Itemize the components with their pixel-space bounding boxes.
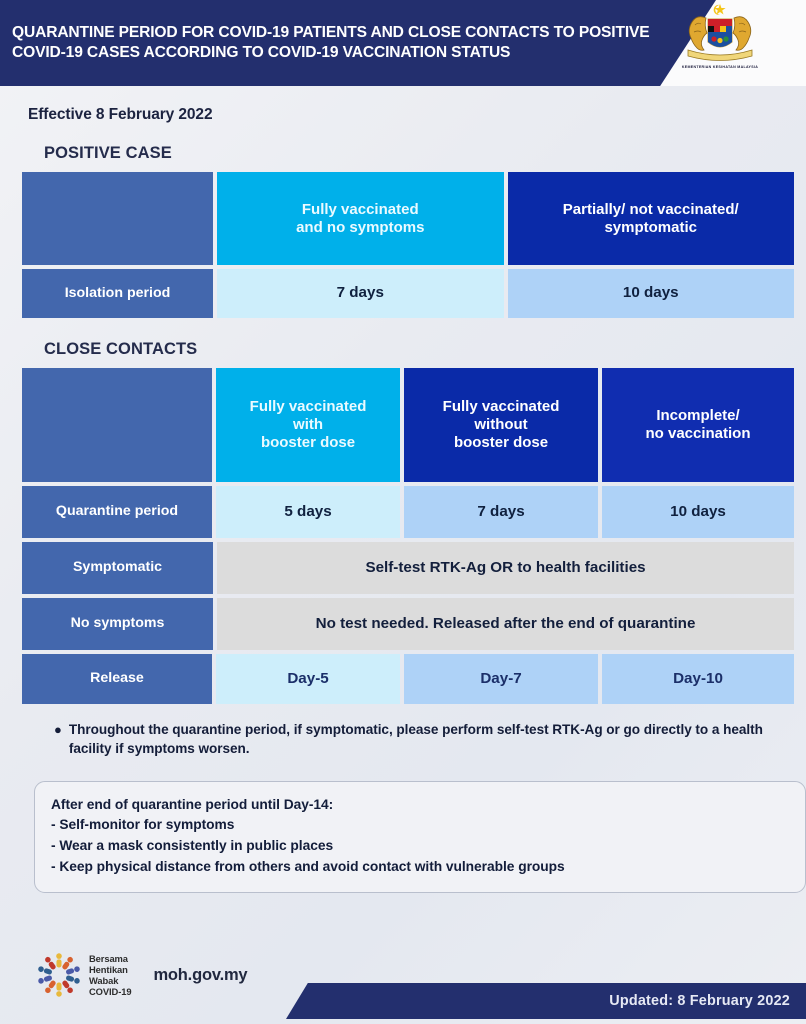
effective-date: Effective 8 February 2022: [28, 106, 788, 124]
brand-block: Bersama Hentikan Wabak COVID-19 moh.gov.…: [32, 948, 247, 1002]
advice-heading: After end of quarantine period until Day…: [51, 795, 789, 816]
footer: Bersama Hentikan Wabak COVID-19 moh.gov.…: [0, 946, 806, 1024]
post-quarantine-advice-box: After end of quarantine period until Day…: [34, 781, 806, 894]
positive-case-table: Fully vaccinated and no symptoms Partial…: [22, 172, 794, 318]
header: QUARANTINE PERIOD FOR COVID-19 PATIENTS …: [0, 0, 806, 86]
row-label-no-symptoms: No symptoms: [22, 598, 213, 650]
cell-isolation-fully-vaccinated: 7 days: [217, 269, 503, 318]
header-line-2: without: [443, 416, 560, 434]
header-line-1: Fully vaccinated: [250, 398, 367, 416]
brand-line-2: Hentikan: [89, 964, 131, 975]
header-line-1: Incomplete/: [645, 407, 750, 425]
row-label-symptomatic: Symptomatic: [22, 542, 213, 594]
bullet-note-text: Throughout the quarantine period, if sym…: [69, 721, 794, 759]
row-label-release: Release: [22, 654, 212, 704]
header-line-2: and no symptoms: [296, 219, 424, 237]
header-line-1: Fully vaccinated: [443, 398, 560, 416]
malaysia-coat-of-arms-icon: KEMENTERIAN KESIHATAN MALAYSIA: [672, 2, 768, 84]
page-title: QUARANTINE PERIOD FOR COVID-19 PATIENTS …: [12, 23, 662, 62]
advice-line-1: - Self-monitor for symptoms: [51, 815, 789, 836]
cell-quarantine-without-booster: 7 days: [404, 486, 598, 538]
section-label-close-contacts: CLOSE CONTACTS: [44, 340, 788, 359]
cell-quarantine-with-booster: 5 days: [216, 486, 400, 538]
close-contacts-table: Fully vaccinated with booster dose Fully…: [22, 368, 794, 704]
table-row: Quarantine period 5 days 7 days 10 days: [22, 486, 794, 538]
footer-banner: Updated: 8 February 2022: [286, 983, 806, 1019]
header-line-3: booster dose: [443, 434, 560, 452]
cell-isolation-partially-vaccinated: 10 days: [508, 269, 794, 318]
updated-date: Updated: 8 February 2022: [609, 993, 790, 1009]
section-label-positive-case: POSITIVE CASE: [44, 144, 788, 163]
infographic-page: QUARANTINE PERIOD FOR COVID-19 PATIENTS …: [0, 0, 806, 1024]
cell-release-incomplete: Day-10: [602, 654, 794, 704]
column-header-fully-vaccinated-no-symptoms: Fully vaccinated and no symptoms: [217, 172, 503, 265]
table-row: Release Day-5 Day-7 Day-10: [22, 654, 794, 704]
cell-release-with-booster: Day-5: [216, 654, 400, 704]
header-banner: QUARANTINE PERIOD FOR COVID-19 PATIENTS …: [0, 0, 716, 86]
table-row: Isolation period 7 days 10 days: [22, 269, 794, 318]
brand-line-4: COVID-19: [89, 986, 131, 997]
header-line-3: booster dose: [250, 434, 367, 452]
blank-corner-cell: [22, 172, 213, 265]
column-header-incomplete-no-vaccination: Incomplete/ no vaccination: [602, 368, 794, 482]
header-line-1: Partially/ not vaccinated/: [563, 201, 739, 219]
header-line-1: Fully vaccinated: [296, 201, 424, 219]
header-line-2: with: [250, 416, 367, 434]
row-label-quarantine-period: Quarantine period: [22, 486, 212, 538]
cell-release-without-booster: Day-7: [404, 654, 598, 704]
bullet-note: ● Throughout the quarantine period, if s…: [54, 721, 794, 759]
cell-symptomatic-merged: Self-test RTK-Ag OR to health facilities: [217, 542, 794, 594]
column-header-partially-not-vaccinated-symptomatic: Partially/ not vaccinated/ symptomatic: [508, 172, 794, 265]
coat-of-arms-svg: [674, 2, 766, 64]
table-header-row: Fully vaccinated with booster dose Fully…: [22, 368, 794, 482]
emblem-caption: KEMENTERIAN KESIHATAN MALAYSIA: [682, 65, 758, 69]
column-header-fully-vaccinated-with-booster: Fully vaccinated with booster dose: [216, 368, 400, 482]
column-header-fully-vaccinated-without-booster: Fully vaccinated without booster dose: [404, 368, 598, 482]
bersama-hentikan-wabak-covid19-logo-icon: [32, 948, 86, 1002]
table-header-row: Fully vaccinated and no symptoms Partial…: [22, 172, 794, 265]
blank-corner-cell: [22, 368, 212, 482]
row-label-isolation-period: Isolation period: [22, 269, 213, 318]
header-line-2: no vaccination: [645, 425, 750, 443]
brand-line-3: Wabak: [89, 975, 131, 986]
advice-line-3: - Keep physical distance from others and…: [51, 857, 789, 878]
header-line-2: symptomatic: [563, 219, 739, 237]
table-row: No symptoms No test needed. Released aft…: [22, 598, 794, 650]
bullet-dot-icon: ●: [54, 721, 62, 759]
brand-words: Bersama Hentikan Wabak COVID-19: [89, 953, 131, 997]
table-row: Symptomatic Self-test RTK-Ag OR to healt…: [22, 542, 794, 594]
advice-line-2: - Wear a mask consistently in public pla…: [51, 836, 789, 857]
brand-line-1: Bersama: [89, 953, 131, 964]
cell-no-symptoms-merged: No test needed. Released after the end o…: [217, 598, 794, 650]
cell-quarantine-incomplete: 10 days: [602, 486, 794, 538]
content-area: Effective 8 February 2022 POSITIVE CASE …: [0, 106, 806, 893]
moh-website-url[interactable]: moh.gov.my: [153, 966, 247, 985]
